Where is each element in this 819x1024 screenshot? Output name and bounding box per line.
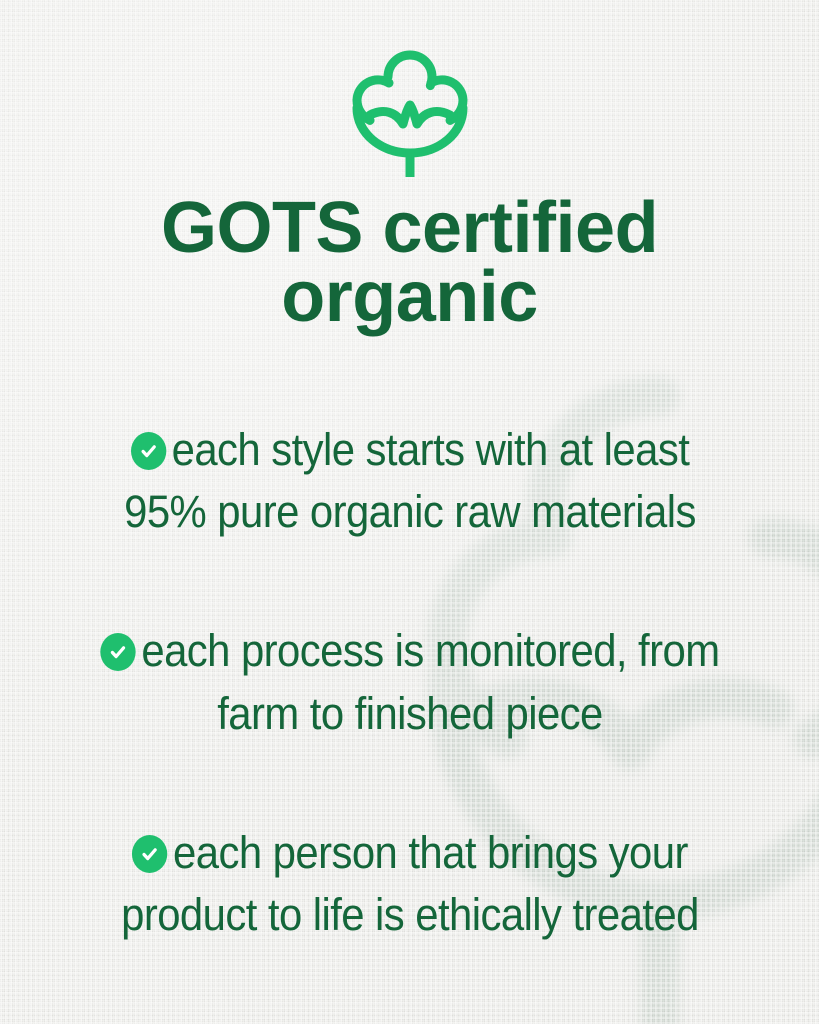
promo-card: GOTS certified organic each style starts…	[0, 0, 819, 1024]
page-title: GOTS certified organic	[90, 194, 730, 332]
check-circle-icon	[130, 432, 165, 470]
list-item-label: each process is monitored, from farm to …	[141, 625, 719, 738]
list-item: each style starts with at least 95% pure…	[84, 419, 735, 543]
list-item: each person that brings your product to …	[84, 822, 735, 946]
list-item-label: each style starts with at least 95% pure…	[124, 424, 696, 537]
benefits-list: each style starts with at least 95% pure…	[0, 374, 819, 991]
list-item: each process is monitored, from farm to …	[84, 620, 735, 744]
check-circle-icon	[132, 835, 167, 873]
check-circle-icon	[100, 633, 135, 671]
list-item-label: each person that brings your product to …	[121, 827, 699, 940]
page-title-line-2: organic	[281, 257, 538, 337]
page-title-line-1: GOTS certified	[161, 188, 658, 268]
cotton-boll-icon	[346, 38, 474, 178]
